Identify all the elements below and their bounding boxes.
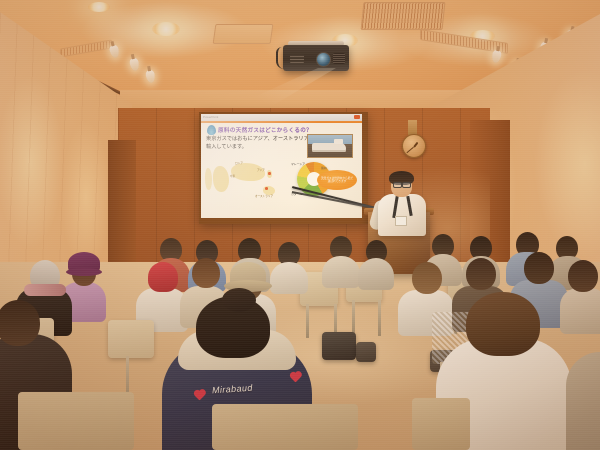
chair-leg: [352, 300, 355, 336]
attendee-head: [466, 292, 540, 356]
slide-window-caption: PowerPoint: [203, 115, 218, 119]
attendee-torso: [322, 256, 360, 288]
chair[interactable]: [18, 392, 134, 450]
attendee-head: [466, 258, 496, 290]
map-label-asia: アジア: [257, 168, 265, 172]
attendee-head: [192, 258, 220, 288]
glasses-icon: [402, 182, 411, 188]
recessed-downlight: [88, 2, 110, 12]
projection-screen: PowerPoint 原料の天然ガスはどこからくるの？ 東京ガスではおもにアジア…: [201, 114, 362, 218]
wall-clock: [402, 134, 426, 158]
pie-label-malaysia: マレーシア: [291, 162, 305, 166]
slide-accent-bar: [201, 121, 362, 123]
projector-exhaust-vent: [333, 53, 345, 64]
attendee-torso: [358, 258, 394, 290]
map-label-middle-east: 中東: [230, 174, 235, 178]
attendee-head: [524, 252, 554, 284]
attendee-scarf: [24, 284, 66, 296]
tanker-ship: [312, 143, 346, 150]
chair-leg: [306, 304, 309, 338]
air-vent-grille: [361, 2, 446, 30]
world-map: ロシア 中東 アジア オーストラリア: [205, 160, 291, 200]
chair[interactable]: [412, 398, 470, 450]
recessed-downlight: [152, 22, 180, 36]
backpack-on-floor[interactable]: [356, 342, 376, 362]
attendee-torso: [566, 352, 600, 450]
map-pin: [265, 187, 268, 190]
chair[interactable]: [212, 404, 358, 450]
landmass-africa-europe: [213, 166, 229, 192]
projector-control-panel[interactable]: [290, 54, 304, 63]
hair-bun: [222, 288, 256, 312]
glasses-icon: [393, 182, 402, 188]
projector-lens-icon: [316, 52, 331, 67]
gas-flame-icon: [207, 125, 216, 135]
ceiling-access-panel: [213, 24, 274, 44]
chair[interactable]: [108, 320, 154, 358]
slide-callout-text: 天然ガスは世界中から船で運ばれてきます: [317, 177, 357, 184]
map-label-russia: ロシア: [235, 161, 243, 165]
lng-tanker-photo: [307, 134, 353, 158]
name-badge: [395, 216, 407, 226]
pie-label-australia: 豪州: [321, 166, 327, 170]
attendee-head: [0, 300, 40, 346]
attendee-head: [568, 260, 598, 292]
backpack-on-floor[interactable]: [322, 332, 356, 360]
map-pin: [268, 172, 271, 175]
chair-leg: [378, 300, 381, 336]
attendee-head: [412, 262, 442, 294]
attendee-torso: [560, 288, 600, 334]
presenter-torso: [378, 194, 426, 236]
close-icon[interactable]: [354, 115, 360, 119]
slide-title: 原料の天然ガスはどこからくるの？: [218, 126, 312, 134]
clock-mount: [408, 120, 417, 135]
hat-brim: [66, 268, 102, 276]
slide-callout-bubble: 天然ガスは世界中から船で運ばれてきます: [317, 170, 357, 190]
map-label-australia: オーストラリア: [255, 194, 273, 198]
minute-hand: [406, 147, 414, 154]
landmass-americas: [205, 168, 212, 190]
red-headscarf: [148, 262, 178, 292]
attendee-torso: [270, 262, 308, 294]
landmass-asia: [231, 163, 265, 181]
seminar-room-photo: PowerPoint 原料の天然ガスはどこからくるの？ 東京ガスではおもにアジア…: [0, 0, 600, 450]
